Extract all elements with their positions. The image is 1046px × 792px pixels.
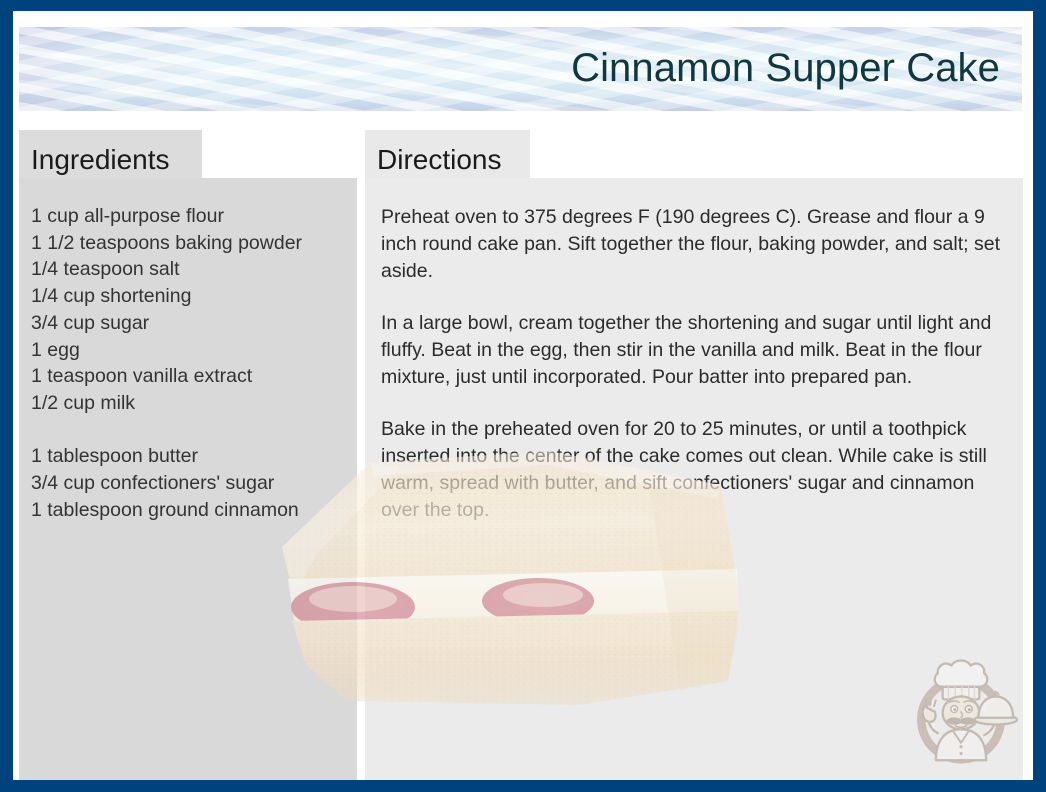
directions-steps: Preheat oven to 375 degrees F (190 degre… xyxy=(381,204,1013,524)
ingredient-list: 1 cup all-purpose flour 1 1/2 teaspoons … xyxy=(31,203,369,523)
ingredient-item: 1 teaspoon vanilla extract xyxy=(31,363,369,390)
ingredient-item: 1 cup all-purpose flour xyxy=(31,203,369,230)
ingredients-heading: Ingredients xyxy=(31,146,170,174)
ingredient-item: 1/4 teaspoon salt xyxy=(31,256,369,283)
ingredients-panel: 1 cup all-purpose flour 1 1/2 teaspoons … xyxy=(19,178,357,780)
ingredient-item: 1 1/2 teaspoons baking powder xyxy=(31,230,369,257)
directions-tab: Directions xyxy=(365,130,530,178)
directions-panel: Preheat oven to 375 degrees F (190 degre… xyxy=(365,178,1023,780)
ingredient-item: 1 tablespoon butter xyxy=(31,443,369,470)
ingredient-item: 1/4 cup shortening xyxy=(31,283,369,310)
ingredient-group-separator xyxy=(31,417,369,444)
ingredient-item: 3/4 cup sugar xyxy=(31,310,369,337)
recipe-card-inner: Cinnamon Supper Cake Ingredients 1 cup a… xyxy=(13,11,1033,780)
page-title: Cinnamon Supper Cake xyxy=(571,48,1000,88)
ingredients-tab: Ingredients xyxy=(19,130,202,178)
recipe-card-page: Cinnamon Supper Cake Ingredients 1 cup a… xyxy=(0,0,1046,792)
header-banner: Cinnamon Supper Cake xyxy=(19,27,1022,111)
ingredient-item: 3/4 cup confectioners' sugar xyxy=(31,470,369,497)
directions-heading: Directions xyxy=(377,146,501,174)
ingredient-item: 1 tablespoon ground cinnamon xyxy=(31,497,369,524)
direction-step: Bake in the preheated oven for 20 to 25 … xyxy=(381,416,1013,524)
ingredient-item: 1 egg xyxy=(31,337,369,364)
ingredient-item: 1/2 cup milk xyxy=(31,390,369,417)
direction-step: Preheat oven to 375 degrees F (190 degre… xyxy=(381,204,1013,285)
direction-step: In a large bowl, cream together the shor… xyxy=(381,310,1013,391)
